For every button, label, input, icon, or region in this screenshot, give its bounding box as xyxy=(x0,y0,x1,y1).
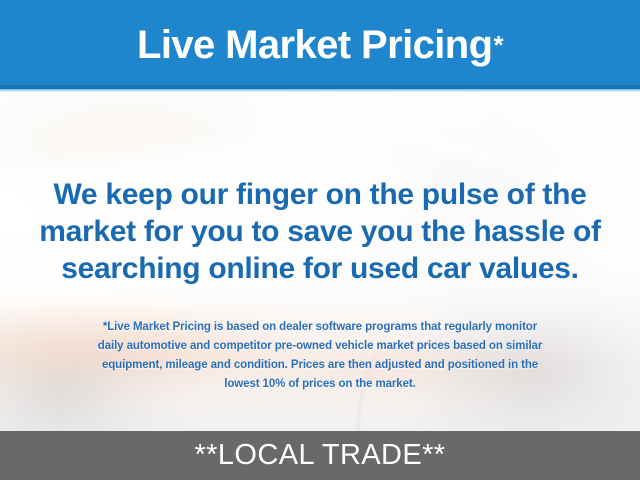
disclaimer-line-4: lowest 10% of prices on the market. xyxy=(28,375,612,394)
headline-line-3: searching online for used car values. xyxy=(22,250,618,287)
header-title-asterisk: * xyxy=(493,32,503,58)
header-title: Live Market Pricing* xyxy=(0,0,640,89)
headline-line-1: We keep our finger on the pulse of the xyxy=(22,176,618,213)
footer-label: **LOCAL TRADE** xyxy=(195,441,446,470)
disclaimer-line-3: equipment, mileage and condition. Prices… xyxy=(28,356,612,375)
footer-bar: **LOCAL TRADE** xyxy=(0,431,640,480)
disclaimer-line-1: *Live Market Pricing is based on dealer … xyxy=(28,318,612,337)
headline: We keep our finger on the pulse of the m… xyxy=(22,176,618,287)
header-underline-highlight xyxy=(0,89,640,92)
header-title-text: Live Market Pricing xyxy=(137,25,492,65)
headline-line-2: market for you to save you the hassle of xyxy=(22,213,618,250)
disclaimer-line-2: daily automotive and competitor pre-owne… xyxy=(28,337,612,356)
disclaimer: *Live Market Pricing is based on dealer … xyxy=(28,318,612,394)
live-market-pricing-banner: Live Market Pricing* We keep our finger … xyxy=(0,0,640,480)
